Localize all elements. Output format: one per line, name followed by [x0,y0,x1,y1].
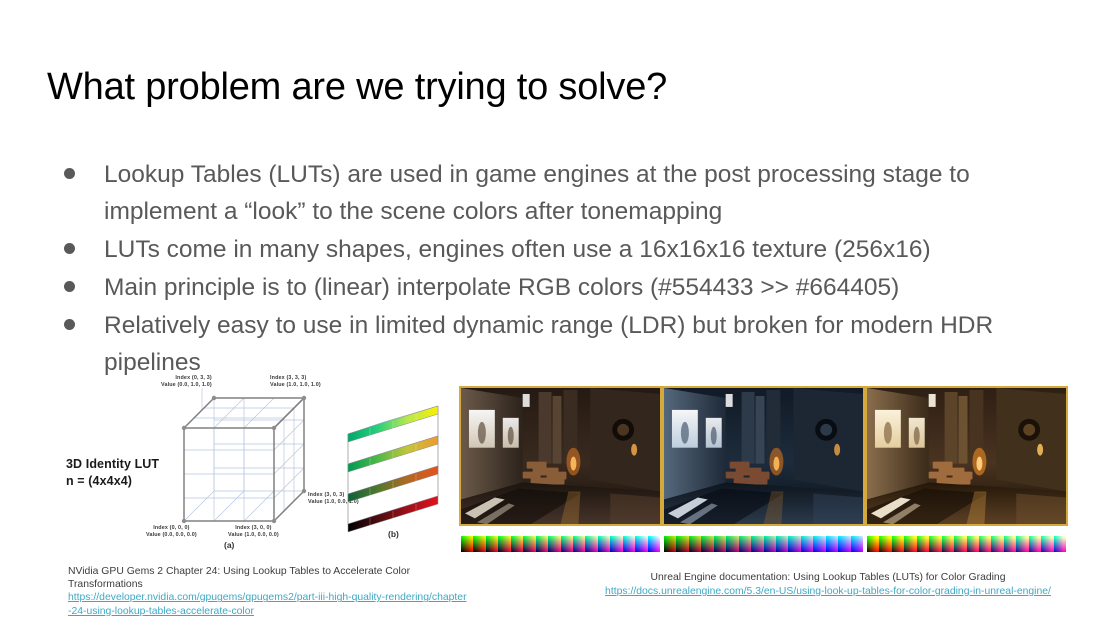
hall-render-neutral-svg [461,388,660,524]
lut-tile [1016,536,1028,552]
cube-label-bottom-left: Index (0, 0, 0) Value (0.0, 0.0, 0.0) [146,525,197,539]
lut-tile [813,536,825,552]
lut-tile [461,536,473,552]
lut-tile [536,536,548,552]
bullet-text: Main principle is to (linear) interpolat… [104,269,1074,306]
lut-color-layers: (b) [342,402,454,532]
page-title: What problem are we trying to solve? [47,66,667,109]
source-right-text: Unreal Engine documentation: Using Looku… [650,572,1005,583]
lut-tile [473,536,485,552]
lut-diagram-figure: 3D Identity LUT n = (4x4x4) [66,388,456,543]
bullet-dot-icon [64,319,75,330]
bullet-dot-icon [64,168,75,179]
lut-tile [867,536,879,552]
lut-strip-cool [664,536,863,552]
cube-label-top-left-value: Value (0.0, 1.0, 1.0) [161,382,212,389]
lut-label-line2: n = (4x4x4) [66,473,159,490]
lut-tile [701,536,713,552]
lut-strip-neutral [461,536,660,552]
lut-tile [739,536,751,552]
cube-label-top-right: Index (3, 3, 3) Value (1.0, 1.0, 1.0) [270,375,321,389]
lut-tile [635,536,647,552]
slide-canvas: What problem are we trying to solve? Loo… [0,0,1116,628]
list-item: Main principle is to (linear) interpolat… [64,269,1074,306]
bullet-text: Lookup Tables (LUTs) are used in game en… [104,156,1074,230]
lut-strip-warm [867,536,1066,552]
figure-caption-a: (a) [224,540,234,550]
source-left-text: NVidia GPU Gems 2 Chapter 24: Using Look… [68,566,410,590]
cube-label-top-left: Index (0, 3, 3) Value (0.0, 1.0, 1.0) [161,375,212,389]
lut-tile [838,536,850,552]
lut-tile [689,536,701,552]
hall-render-warm-svg [867,388,1066,524]
lut-tile [1041,536,1053,552]
lut-tile [917,536,929,552]
lut-identity-label: 3D Identity LUT n = (4x4x4) [66,456,159,490]
bullet-dot-icon [64,243,75,254]
source-left-link[interactable]: https://developer.nvidia.com/gpugems/gpu… [68,591,468,617]
lut-tile [904,536,916,552]
lut-tile [585,536,597,552]
cube-label-top-right-index: Index (3, 3, 3) [270,375,321,382]
lut-tile [714,536,726,552]
lut-tile [942,536,954,552]
cube-label-bottom-mid-value: Value (1.0, 0.0, 0.0) [228,532,279,539]
cube-label-bottom-left-index: Index (0, 0, 0) [146,525,197,532]
list-item: Lookup Tables (LUTs) are used in game en… [64,156,1074,230]
source-caption-right: Unreal Engine documentation: Using Looku… [578,571,1078,599]
lut-tile [610,536,622,552]
hall-render-cool-svg [664,388,863,524]
lut-tile [751,536,763,552]
lut-tile [851,536,863,552]
lut-tile [892,536,904,552]
lut-tile [498,536,510,552]
lut-tile [486,536,498,552]
bullet-list: Lookup Tables (LUTs) are used in game en… [64,156,1074,382]
lut-tile [967,536,979,552]
cube-wireframe-svg [166,388,356,543]
screenshot-warm-sepia-hall [865,386,1068,526]
lut-tile [598,536,610,552]
lut-tile [548,536,560,552]
lut-tile [726,536,738,552]
screenshot-cool-blue-hall [662,386,865,526]
bullet-text: LUTs come in many shapes, engines often … [104,231,1074,268]
cube-label-top-right-value: Value (1.0, 1.0, 1.0) [270,382,321,389]
list-item: LUTs come in many shapes, engines often … [64,231,1074,268]
lut-tile [929,536,941,552]
lut-tile [991,536,1003,552]
lut-label-line1: 3D Identity LUT [66,456,159,473]
cube-label-bottom-left-value: Value (0.0, 0.0, 0.0) [146,532,197,539]
lut-tile [561,536,573,552]
lut-tile [788,536,800,552]
lut-tile [764,536,776,552]
lut-tile [826,536,838,552]
screenshot-neutral-hall [459,386,662,526]
bullet-text: Relatively easy to use in limited dynami… [104,307,1074,381]
lut-tile [648,536,660,552]
lut-tile [1029,536,1041,552]
lut-cube-wireframe: Index (0, 3, 3) Value (0.0, 1.0, 1.0) In… [166,388,356,543]
lut-tile [1054,536,1066,552]
lut-tile [523,536,535,552]
lut-tile [776,536,788,552]
lut-tile [801,536,813,552]
lut-tile [573,536,585,552]
source-caption-left: NVidia GPU Gems 2 Chapter 24: Using Look… [68,565,468,618]
lut-tile [979,536,991,552]
cube-label-bottom-mid-index: Index (3, 0, 0) [228,525,279,532]
cube-label-top-left-index: Index (0, 3, 3) [161,375,212,382]
lut-tile [879,536,891,552]
lut-layers-svg [342,402,454,542]
bullet-dot-icon [64,281,75,292]
lut-tile [676,536,688,552]
lut-tile [954,536,966,552]
lut-tile [1004,536,1016,552]
source-right-link[interactable]: https://docs.unrealengine.com/5.3/en-US/… [578,585,1078,599]
lut-tile [664,536,676,552]
cube-label-bottom-mid: Index (3, 0, 0) Value (1.0, 0.0, 0.0) [228,525,279,539]
figure-caption-b: (b) [388,529,399,539]
lut-tile [511,536,523,552]
list-item: Relatively easy to use in limited dynami… [64,307,1074,381]
lut-tile [623,536,635,552]
